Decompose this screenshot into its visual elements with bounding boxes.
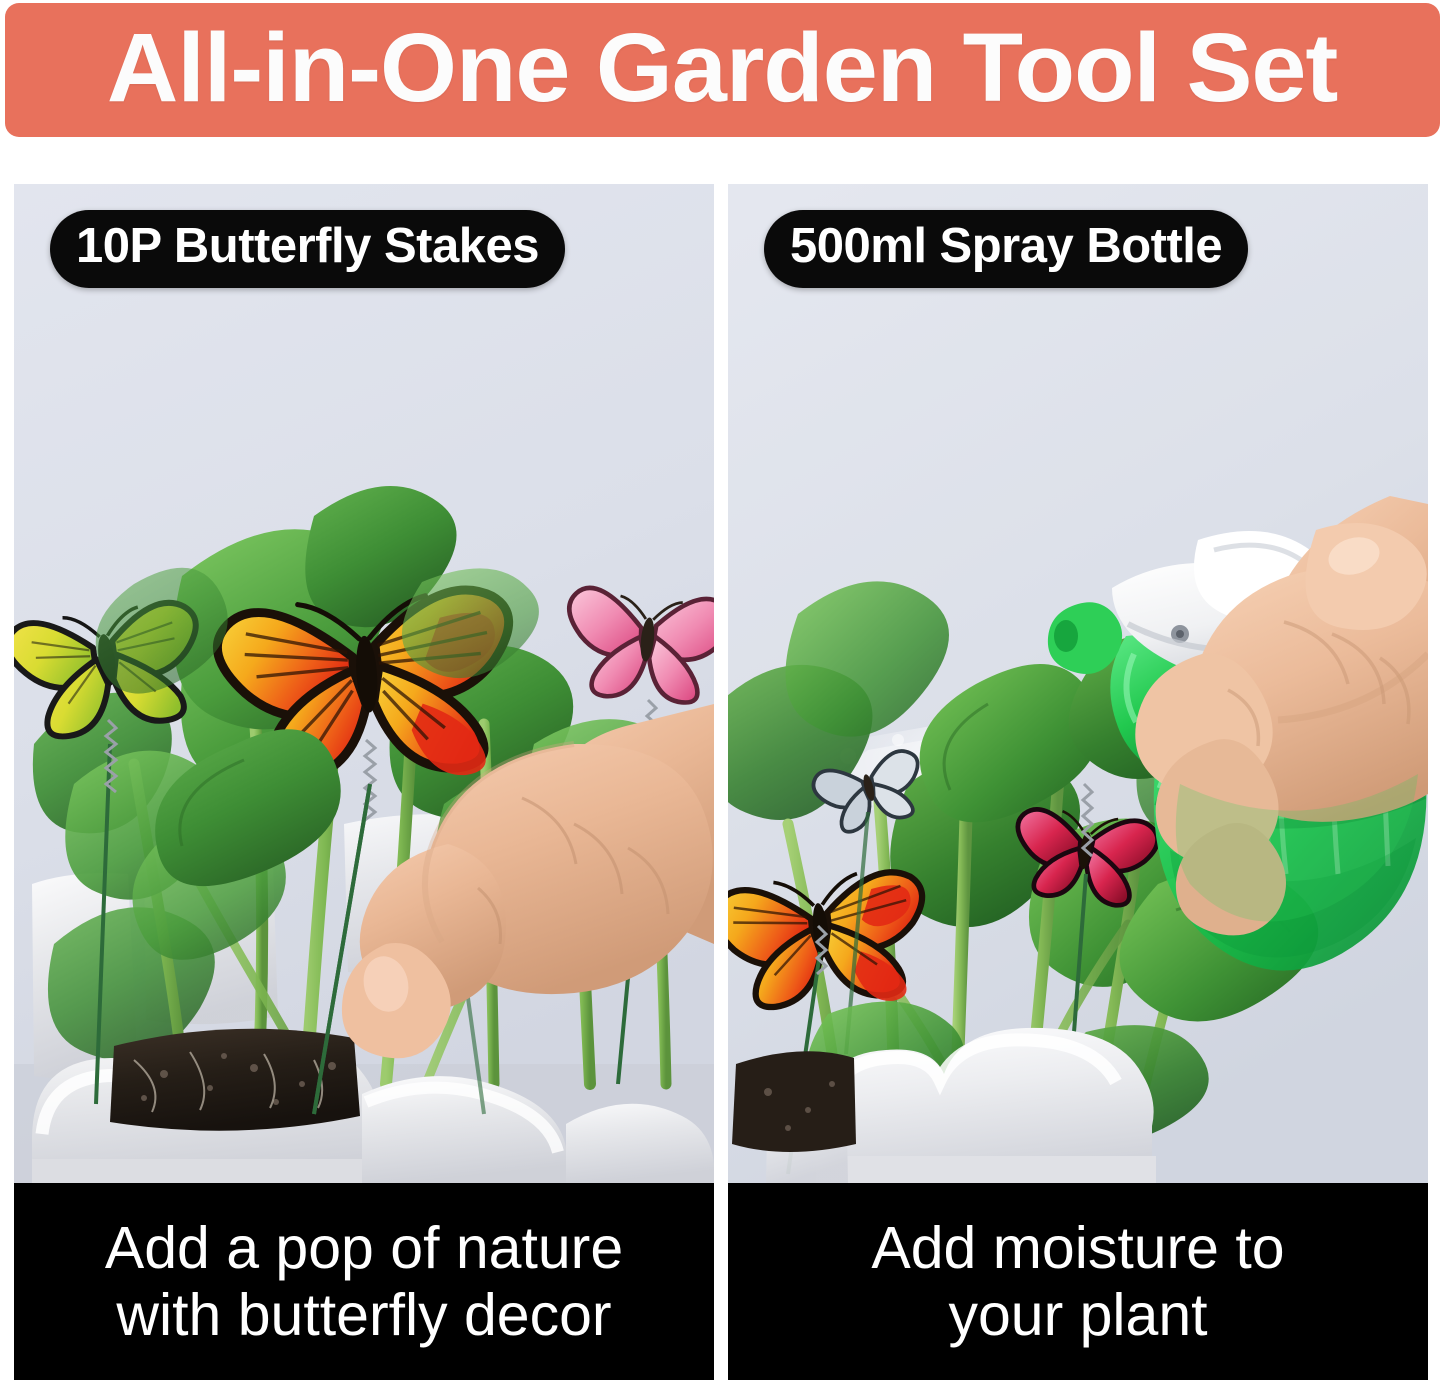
badge-label: 500ml Spray Bottle [790,222,1222,276]
panel-grid: 10P Butterfly Stakes Add a pop of nature… [0,184,1445,1380]
page-title: All-in-One Garden Tool Set [107,19,1337,122]
panel-butterfly-stakes: 10P Butterfly Stakes Add a pop of nature… [14,184,714,1380]
caption-spray-bottle: Add moisture to your plant [728,1183,1428,1380]
caption-line-2: with butterfly decor [116,1282,611,1349]
butterfly-stakes-photo [14,184,714,1183]
caption-line-2: your plant [948,1282,1207,1349]
soil-r [732,1051,856,1152]
caption-butterfly-stakes: Add a pop of nature with butterfly decor [14,1183,714,1380]
soil [110,1029,360,1131]
spray-bottle-photo [728,184,1428,1183]
caption-line-1: Add moisture to [871,1215,1284,1282]
badge-spray-bottle: 500ml Spray Bottle [764,210,1248,288]
badge-butterfly-stakes: 10P Butterfly Stakes [50,210,565,288]
badge-label: 10P Butterfly Stakes [76,222,539,276]
caption-line-1: Add a pop of nature [105,1215,623,1282]
header-banner: All-in-One Garden Tool Set [5,3,1440,137]
panel-spray-bottle: 500ml Spray Bottle Add moisture to your … [728,184,1428,1380]
product-infographic: All-in-One Garden Tool Set [0,0,1445,1390]
